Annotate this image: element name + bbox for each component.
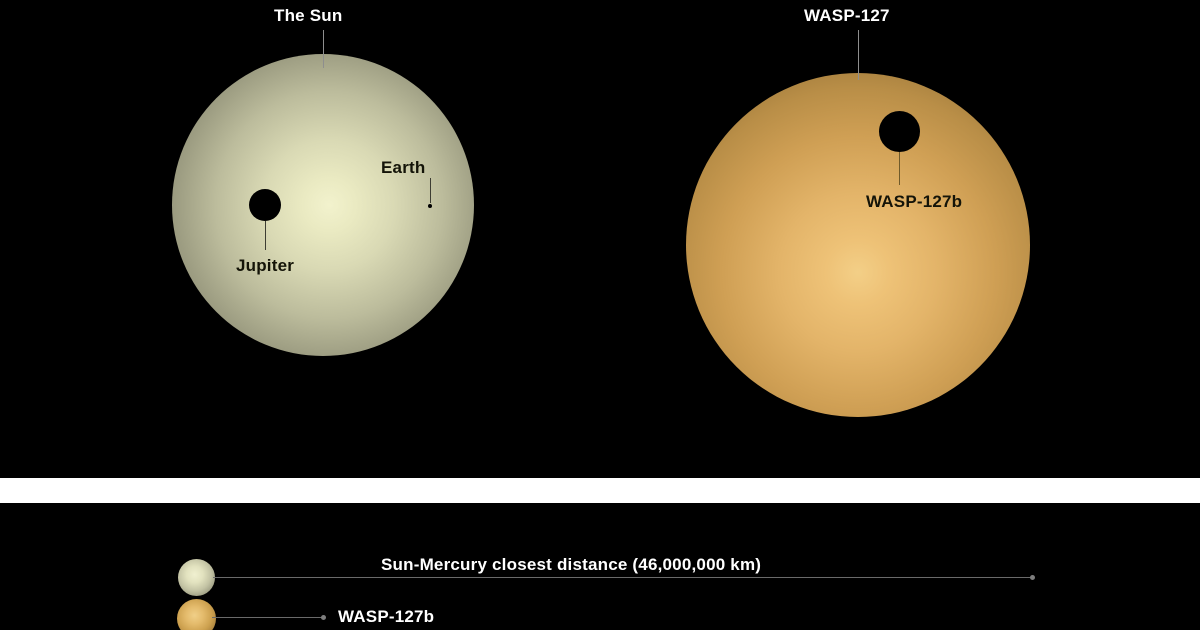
earth-leader-line (430, 178, 431, 203)
wasp-127b-distance-line (212, 617, 324, 618)
wasp-127-label: WASP-127 (804, 6, 890, 26)
wasp-127-scale-sphere (177, 599, 216, 630)
wasp-127-disk (686, 73, 1030, 417)
sun-label: The Sun (274, 6, 342, 26)
wasp-127b-label: WASP-127b (866, 192, 962, 212)
wasp-127-leader-line (858, 30, 859, 80)
earth-label: Earth (381, 158, 425, 178)
wasp-127b-distance-label: WASP-127b (338, 607, 434, 627)
earth-silhouette (428, 204, 432, 208)
panel-divider (0, 478, 1200, 503)
wasp-127b-silhouette (879, 111, 920, 152)
jupiter-silhouette (249, 189, 281, 221)
wasp-127b-leader-line (899, 152, 900, 185)
jupiter-label: Jupiter (236, 256, 294, 276)
star-comparison-infographic: The Sun Jupiter Earth WASP-127 WASP-127b… (0, 0, 1200, 630)
wasp-127b-distance-endcap (321, 615, 326, 620)
orbital-distance-panel: Sun-Mercury closest distance (46,000,000… (0, 503, 1200, 630)
star-size-comparison-panel: The Sun Jupiter Earth WASP-127 WASP-127b (0, 0, 1200, 478)
sun-leader-line (323, 30, 324, 68)
jupiter-leader-line (265, 221, 266, 250)
